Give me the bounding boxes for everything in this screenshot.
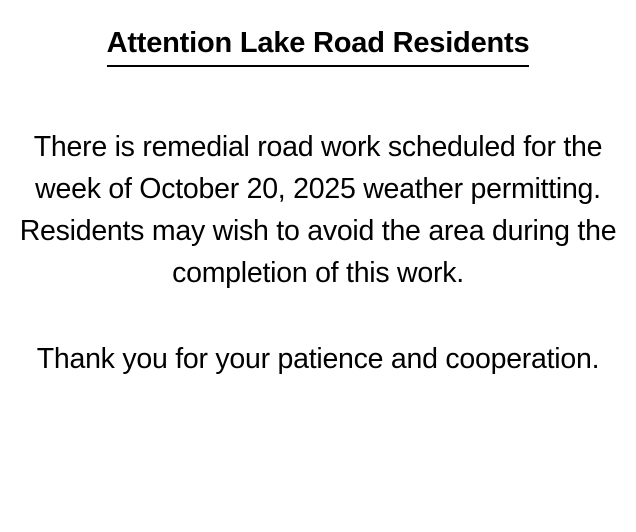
page-title: Attention Lake Road Residents bbox=[0, 24, 636, 67]
road-work-notice: Attention Lake Road Residents There is r… bbox=[0, 0, 636, 532]
paragraph-avoidance-advice: Residents may wish to avoid the area dur… bbox=[0, 210, 636, 294]
notice-body: There is remedial road work scheduled fo… bbox=[0, 126, 636, 380]
paragraph-schedule-notice: There is remedial road work scheduled fo… bbox=[0, 126, 636, 210]
paragraph-closing-thanks: Thank you for your patience and cooperat… bbox=[0, 338, 636, 380]
paragraph-spacer bbox=[0, 294, 636, 338]
page-title-text: Attention Lake Road Residents bbox=[107, 24, 530, 67]
